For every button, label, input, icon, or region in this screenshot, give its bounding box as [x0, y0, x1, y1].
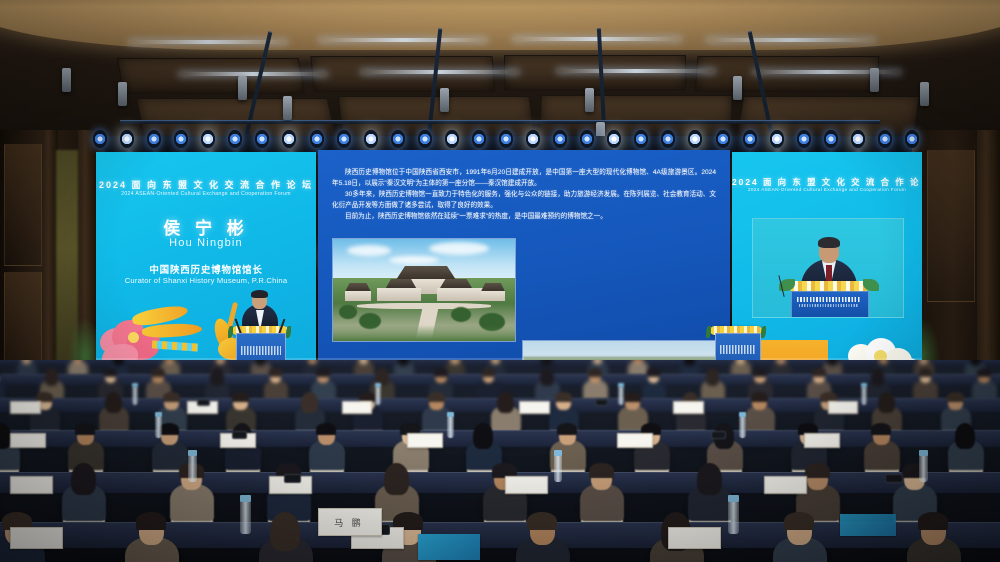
right-screen-title-en: 2024 ASEAN-Oriented Cultural Exchange an… — [732, 188, 922, 193]
speaker-hair — [818, 237, 840, 248]
audience-seating: 马 鹏 — [0, 360, 1000, 562]
stage-spotlight — [228, 130, 242, 148]
audience-name-card — [668, 527, 721, 549]
stage-spotlight — [634, 130, 648, 148]
stage-spotlight — [120, 130, 134, 148]
museum-side-wall — [481, 291, 505, 301]
museum-side-wall — [345, 291, 371, 301]
podium-greenery — [706, 326, 711, 338]
stage-spotlight — [499, 130, 513, 148]
stage-spotlight — [310, 130, 324, 148]
speaker-name-cn: 侯 宁 彬 — [96, 214, 316, 239]
video-podium-subsign — [799, 304, 859, 307]
ceiling-light-strip — [556, 69, 716, 73]
audience-person-hair — [784, 512, 814, 530]
photo-tree — [339, 305, 357, 319]
stage-spotlight — [607, 130, 621, 148]
stage-spotlight — [770, 130, 784, 148]
wall-panel — [4, 144, 42, 266]
conference-booklet — [840, 514, 896, 536]
left-screen-title-cn: 2024 面 向 东 盟 文 化 交 流 合 作 论 坛 — [96, 178, 316, 191]
stage-spotlight — [201, 130, 215, 148]
podium-greenery — [863, 279, 879, 291]
conference-hall-photo: 2024 面 向 东 盟 文 化 交 流 合 作 论 坛 2024 ASEAN-… — [0, 0, 1000, 562]
bottle-cap — [728, 495, 739, 502]
ceiling-downlight — [440, 88, 449, 112]
ceiling-downlight — [870, 68, 879, 92]
speaker-name-en: Hou Ningbin — [96, 237, 316, 249]
stage-spotlight — [553, 130, 567, 148]
center-screen-text: 陕西历史博物馆位于中国陕西省西安市，1991年6月20日建成开放，是中国第一座大… — [332, 168, 716, 224]
ceiling-downlight — [733, 76, 742, 100]
stage-spotlight — [661, 130, 675, 148]
stage-spotlight — [580, 130, 594, 148]
stage-spotlight — [743, 130, 757, 148]
stage-spotlight — [418, 130, 432, 148]
photo-tree — [451, 307, 471, 322]
stage-spotlight — [337, 130, 351, 148]
stage-spotlight — [905, 130, 919, 148]
video-podium-sign — [797, 297, 861, 302]
photo-foreground — [333, 325, 515, 341]
stage-spotlight — [391, 130, 405, 148]
photo-cloud — [389, 256, 439, 264]
stage-spotlight — [716, 130, 730, 148]
ceiling-light-strip — [178, 72, 328, 76]
ceiling-coffer — [117, 58, 305, 94]
ceiling-light-strip — [318, 38, 488, 42]
museum-photo-exterior — [332, 238, 516, 342]
ceiling-downlight — [238, 76, 247, 100]
name-card-text: 马 鹏 — [318, 516, 380, 529]
photo-cloud — [429, 242, 489, 255]
ceiling-light-strip — [128, 40, 288, 44]
audience-person-hair — [270, 512, 300, 551]
podium-right-sign — [720, 345, 757, 353]
audience-person-hair — [918, 512, 948, 530]
left-screen-title-en: 2024 ASEAN-Oriented Cultural Exchange an… — [96, 191, 316, 197]
podium-greenery — [286, 326, 291, 338]
wall-panel — [927, 150, 975, 302]
audience-person-hair — [527, 512, 557, 530]
live-video-feed — [752, 218, 904, 318]
stage-spotlight — [797, 130, 811, 148]
speaker-role-en: Curator of Shanxi History Museum, P.R.Ch… — [96, 276, 316, 285]
ceiling-downlight — [283, 96, 292, 120]
speaker-role-cn: 中国陕西历史博物馆馆长 — [96, 262, 316, 276]
conference-booklet — [418, 534, 480, 560]
podium-greenery — [761, 326, 766, 338]
stage-spotlight — [688, 130, 702, 148]
stage-spotlight — [93, 130, 107, 148]
bottle-cap — [240, 495, 251, 502]
ceiling-truss — [120, 120, 880, 124]
podium-left-sign — [241, 346, 281, 355]
stage-light-row — [100, 126, 912, 152]
museum-wing-wall — [377, 288, 421, 301]
stage-spotlight — [824, 130, 838, 148]
ceiling-light-strip — [706, 38, 876, 42]
photo-cloud — [347, 245, 391, 256]
stage-spotlight — [851, 130, 865, 148]
stage-spotlight — [147, 130, 161, 148]
paragraph-2: 30多年来，陕西历史博物馆一直致力于特色化的服务，强化与公众的链接，助力旅游经济… — [332, 190, 716, 211]
paragraph-1: 陕西历史博物馆位于中国陕西省西安市，1991年6月20日建成开放，是中国第一座大… — [332, 168, 716, 189]
ceiling-downlight — [920, 82, 929, 106]
right-screen-title-cn: 2024 面 向 东 盟 文 化 交 流 合 作 论 坛 — [732, 176, 922, 188]
stage-spotlight — [472, 130, 486, 148]
museum-wing-wall — [437, 288, 483, 301]
ceiling-downlight — [62, 68, 71, 92]
ceiling-light-strip — [752, 70, 902, 74]
ceiling-downlight — [118, 82, 127, 106]
stage-spotlight — [878, 130, 892, 148]
stage-spotlight — [282, 130, 296, 148]
audience-person-hair — [136, 512, 166, 530]
ceiling-coffer — [694, 56, 879, 92]
paragraph-3: 目前为止，陕西历史博物馆依然在延续"一票难求"的热度，是中国最难预约的博物馆之一… — [332, 212, 716, 223]
stage-spotlight — [445, 130, 459, 148]
ceiling-coffer — [504, 55, 686, 91]
stage-spotlight — [255, 130, 269, 148]
ceiling-downlight — [585, 88, 594, 112]
peony-center — [128, 332, 139, 343]
water-bottle — [240, 501, 251, 534]
stage-spotlight — [364, 130, 378, 148]
center-led-screen: 陕西历史博物馆位于中国陕西省西安市，1991年6月20日建成开放，是中国第一座大… — [318, 150, 730, 388]
audience-name-card — [10, 527, 63, 549]
stage-speaker-hair — [251, 290, 268, 298]
ceiling-coffer — [310, 56, 495, 92]
ceiling-light-strip — [360, 70, 520, 74]
podium-greenery — [228, 326, 233, 338]
stage-spotlight — [174, 130, 188, 148]
stage-spotlight — [526, 130, 540, 148]
water-bottle — [728, 501, 739, 534]
